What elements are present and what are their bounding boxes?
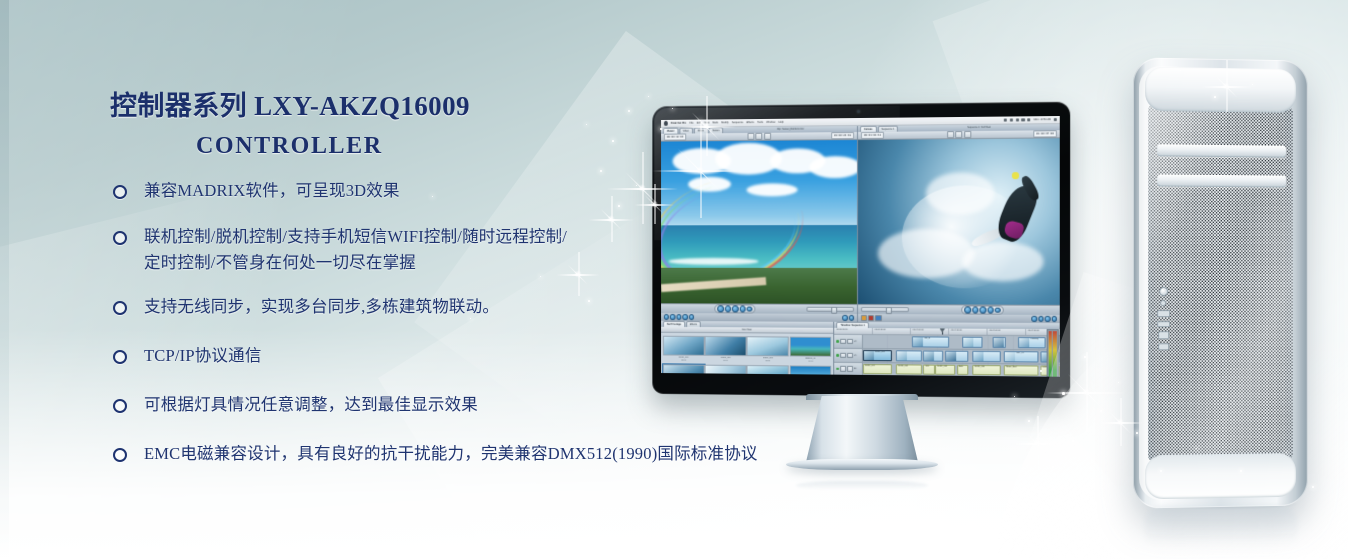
- feature-text: 可根据灯具情况任意调整，达到最佳显示效果: [144, 392, 478, 418]
- firewire-port-icon[interactable]: [1158, 343, 1169, 351]
- mark-in-button[interactable]: [1032, 316, 1038, 321]
- list-item[interactable]: SURF_00300:06: [748, 336, 788, 363]
- bullet-ring-icon: [113, 350, 127, 364]
- canvas-scrubber[interactable]: [861, 307, 909, 313]
- clip-label: Music_Bed: [1006, 367, 1016, 369]
- next-edit-button[interactable]: [682, 314, 687, 319]
- match-frame-button[interactable]: [717, 306, 723, 312]
- monitor-stand-base: [786, 459, 938, 470]
- list-item[interactable]: SURF_00200:11: [706, 336, 746, 363]
- battery-icon[interactable]: [1027, 118, 1030, 121]
- clip-label: SURF_001: [865, 365, 875, 367]
- viewer-timecode-out[interactable]: 01:00:24:18: [831, 132, 854, 139]
- mark-clip-button[interactable]: [725, 306, 731, 312]
- clip-thumbnail: [1005, 352, 1015, 361]
- timeline-clip[interactable]: [896, 350, 921, 361]
- prev-edit-button[interactable]: [964, 307, 970, 313]
- bullet-ring-icon: [113, 185, 127, 199]
- clip-thumbnail: [1019, 338, 1029, 347]
- browser-panel: Surf Footage Effects Icon View SURF_0010…: [661, 321, 835, 377]
- mark-out-button[interactable]: [1038, 316, 1044, 321]
- spotlight-icon[interactable]: [1053, 118, 1056, 121]
- clip-thumbnail: [1041, 352, 1051, 361]
- clip-thumbnail[interactable]: [705, 336, 747, 356]
- lower-row: Surf Footage Effects Icon View SURF_0010…: [661, 321, 1060, 377]
- list-item[interactable]: BEACH_0100:14: [790, 337, 830, 364]
- viewer-image-beach[interactable]: [661, 140, 857, 304]
- timeline-tab-strip[interactable]: Timeline: Sequence 1: [835, 322, 1060, 329]
- toolbar-spacer: [771, 136, 831, 137]
- canvas-transport[interactable]: [858, 304, 1060, 315]
- play-around-button[interactable]: [747, 306, 752, 311]
- tab-canvas[interactable]: Canvas: [860, 125, 876, 132]
- menu-file[interactable]: File: [689, 120, 693, 127]
- surfer-shorts: [1003, 219, 1025, 240]
- timeline-clip[interactable]: [923, 350, 943, 361]
- volume-icon[interactable]: [1016, 118, 1019, 121]
- loop-button[interactable]: [995, 307, 1000, 312]
- power-button-icon[interactable]: [1159, 287, 1168, 296]
- track-controls[interactable]: V1: [835, 349, 863, 362]
- timemachine-icon[interactable]: [1010, 118, 1013, 121]
- timeline-audio-clip[interactable]: Music_Bed: [1004, 365, 1038, 375]
- timeline-clip[interactable]: SKY_01: [1004, 351, 1038, 362]
- ruler-label: 00:01:30:00: [951, 329, 962, 331]
- track-enable-led[interactable]: [836, 354, 839, 357]
- tower-top-cap: [1145, 67, 1296, 113]
- feature-text: EMC电磁兼容设计，具有良好的抗干扰能力，完美兼容DMX512(1990)国际标…: [144, 441, 758, 467]
- canvas-view-button[interactable]: [955, 131, 962, 138]
- ruler-label: 00:00:00:00: [837, 328, 848, 330]
- timeline-clip[interactable]: Title_A: [912, 336, 949, 347]
- clip-duration: 00:08: [681, 360, 686, 363]
- surfer-arm: [1019, 174, 1041, 202]
- tab-sequence[interactable]: Sequence 1: [877, 125, 898, 132]
- menu-mark[interactable]: Mark: [713, 119, 719, 126]
- track-enable-led[interactable]: [836, 340, 839, 343]
- clip-duration: 00:11: [723, 360, 728, 363]
- display-monitor: Final Cut Pro File Edit View Mark Modify…: [652, 102, 1070, 399]
- monitor-screen: Final Cut Pro File Edit View Mark Modify…: [661, 116, 1060, 377]
- feature-text: 支持无线同步，实现多台同步,多栋建筑物联动。: [144, 294, 499, 320]
- monitor-stand-reflection: [796, 481, 928, 490]
- play-in-out-button[interactable]: [670, 314, 675, 319]
- tower-mesh-sheen: [1148, 105, 1293, 461]
- viewer-view-button[interactable]: [756, 133, 763, 140]
- canvas-image-surfer[interactable]: [858, 138, 1060, 304]
- timeline-panel: Timeline: Sequence 1 00:00:00:00 00:00:3…: [835, 322, 1060, 377]
- menu-bar-spacer: [787, 120, 1001, 122]
- clip-label: Title_A: [924, 338, 930, 340]
- monitor-stand-neck: [806, 396, 918, 462]
- clip-thumbnail: [864, 351, 874, 360]
- menu-view[interactable]: View: [704, 119, 709, 126]
- clip-label: SURF_002: [898, 366, 908, 368]
- timeline-audio-clip[interactable]: SURF_001: [863, 364, 892, 374]
- track-lane[interactable]: SURF_001 SKY_01: [863, 349, 1060, 364]
- clip-thumbnail: [897, 351, 907, 360]
- surfer-glove: [1012, 172, 1019, 179]
- clip-thumbnail: [913, 337, 923, 346]
- mark-clip-button[interactable]: [1045, 316, 1051, 321]
- clip-name: SURF_001: [679, 356, 689, 359]
- timeline-audio-clip[interactable]: SURF_003: [935, 365, 955, 375]
- bullet-ring-icon: [113, 231, 127, 245]
- ruler-label: 00:02:30:00: [1028, 330, 1039, 332]
- track-controls[interactable]: A1: [835, 363, 863, 375]
- usb-port-icon[interactable]: [1157, 310, 1170, 317]
- clip-name: SURF_002: [721, 357, 731, 360]
- menu-effects[interactable]: Effects: [746, 119, 754, 126]
- feature-text-line2: 定时控制/不管身在何处一切尽在掌握: [144, 250, 567, 276]
- timeline-tracks[interactable]: V2 Title_A Cutaway: [835, 335, 1060, 377]
- play-button[interactable]: [676, 314, 681, 319]
- clip-label: SKY_01: [1016, 353, 1023, 355]
- clip-label: SURF_010: [1042, 367, 1052, 369]
- clip-label: SFX: [925, 366, 929, 368]
- clip-duration: 00:06: [765, 360, 770, 363]
- viewer-scrubber[interactable]: [806, 307, 854, 313]
- menu-final-cut-pro[interactable]: Final Cut Pro: [671, 120, 687, 127]
- menu-tools[interactable]: Tools: [757, 119, 763, 126]
- timeline-audio-clip[interactable]: Amb: [957, 365, 969, 375]
- browser-clip-grid[interactable]: SURF_00100:08 SURF_00200:11 SURF_00300:0…: [661, 333, 834, 377]
- insert-edit-button[interactable]: [861, 315, 867, 321]
- toolbar-spacer: [971, 134, 1033, 135]
- tower-bottom-cap: [1145, 453, 1296, 499]
- clip-thumbnail: [993, 338, 1003, 347]
- headphone-jack-icon[interactable]: [1160, 300, 1166, 306]
- viewer-panel: Viewer Video Filters Motion Clip: Sunset…: [661, 126, 858, 322]
- viewer-mark-group[interactable]: [842, 315, 854, 320]
- ruler-label: 00:01:00:00: [913, 329, 924, 331]
- viewer-nav-group[interactable]: [664, 314, 694, 319]
- timeline-audio-clip[interactable]: SURF_002: [896, 364, 921, 374]
- mark-in-button[interactable]: [842, 315, 847, 320]
- prev-edit-button[interactable]: [664, 314, 669, 319]
- clip-label: Amb: [959, 366, 963, 368]
- menu-sequence[interactable]: Sequence: [732, 119, 743, 126]
- toolbar-spacer: [686, 136, 745, 137]
- clip-duration: 00:14: [808, 361, 813, 364]
- surfboard: [970, 225, 1007, 249]
- toolbar-spacer: [884, 135, 945, 136]
- timeline-clip[interactable]: Cutaway: [1018, 337, 1046, 348]
- spray-plume: [926, 172, 995, 215]
- page-title-en: CONTROLLER: [110, 133, 730, 160]
- canvas-mark-group[interactable]: [1032, 316, 1057, 322]
- canvas-transport-pill[interactable]: [961, 305, 1003, 315]
- firewire-port-icon[interactable]: [1158, 331, 1169, 339]
- bluetooth-icon[interactable]: [1004, 118, 1007, 121]
- feature-text: 兼容MADRIX软件，可呈现3D效果: [144, 178, 400, 204]
- overwrite-edit-button[interactable]: [868, 315, 874, 321]
- feature-text: 联机控制/脱机控制/支持手机短信WIFI控制/随时远程控制/定时控制/不管身在何…: [144, 224, 567, 276]
- cloud-shape: [809, 156, 857, 178]
- play-in-out-button[interactable]: [740, 306, 746, 312]
- track-visibility-toggle[interactable]: [840, 353, 846, 359]
- canvas-overlay-button[interactable]: [964, 131, 971, 138]
- table-row[interactable]: A1 SURF_001 SURF_002 SFX SURF_003 Amb SU…: [835, 363, 1060, 377]
- tower-port-cluster[interactable]: [1155, 287, 1171, 350]
- clip-thumbnail[interactable]: [747, 336, 789, 356]
- play-in-out-button[interactable]: [972, 307, 978, 313]
- table-row[interactable]: V2 Title_A Cutaway: [835, 335, 1060, 351]
- track-lock-toggle[interactable]: [847, 339, 853, 345]
- spray-plume: [962, 242, 1043, 282]
- page-title-cn: 控制器系列 LXY-AKZQ16009: [110, 84, 730, 123]
- canvas-timecode-out[interactable]: 01:00:37:02: [1033, 130, 1057, 137]
- play-button[interactable]: [980, 307, 986, 313]
- canvas-edit-group[interactable]: [861, 315, 881, 321]
- track-controls[interactable]: V2: [835, 335, 863, 348]
- tower-reflection: [1145, 505, 1297, 553]
- track-lane[interactable]: Title_A Cutaway: [863, 335, 1060, 349]
- wifi-icon[interactable]: [1021, 118, 1024, 121]
- track-enable-led[interactable]: [836, 368, 839, 371]
- bullet-ring-icon: [113, 399, 127, 413]
- menu-modify[interactable]: Modify: [721, 119, 728, 126]
- list-item[interactable]: SURF_00100:08: [664, 336, 703, 363]
- replace-edit-button[interactable]: [875, 315, 881, 321]
- clip-label: SURF_004: [975, 366, 985, 368]
- ruler-label: 00:00:30:00: [875, 329, 886, 331]
- surfer-body: [993, 182, 1041, 245]
- timeline-audio-clip[interactable]: SURF_004: [973, 365, 1001, 375]
- feature-text: TCP/IP协议通信: [144, 343, 262, 369]
- feature-text-line1: 联机控制/脱机控制/支持手机短信WIFI控制/随时远程控制/: [144, 227, 567, 246]
- bullet-ring-icon: [113, 301, 127, 315]
- promo-banner: 控制器系列 LXY-AKZQ16009 CONTROLLER 兼容MADRIX软…: [0, 0, 1348, 559]
- clip-thumbnail: [924, 352, 934, 361]
- table-row[interactable]: V1 SURF_001 SKY_01: [835, 349, 1060, 365]
- viewer-row: Viewer Video Filters Motion Clip: Sunset…: [661, 124, 1060, 323]
- viewer-overlay-button[interactable]: [764, 133, 771, 140]
- clip-thumbnail[interactable]: [663, 336, 704, 356]
- ruler-label: 00:02:00:00: [989, 329, 1000, 331]
- track-lane[interactable]: SURF_001 SURF_002 SFX SURF_003 Amb SURF_…: [863, 363, 1060, 377]
- timeline-clip[interactable]: [963, 337, 983, 348]
- add-keyframe-button[interactable]: [1051, 316, 1057, 321]
- optical-drive-slot[interactable]: [1157, 174, 1286, 187]
- timeline-audio-clip[interactable]: SFX: [923, 365, 935, 375]
- canvas-tab-strip[interactable]: Canvas Sequence 1 Sequence 1: Surf Reel: [858, 124, 1060, 132]
- wave-crest: [902, 185, 1027, 288]
- clip-thumbnail: [964, 338, 974, 347]
- canvas-panel: Canvas Sequence 1 Sequence 1: Surf Reel …: [858, 124, 1060, 323]
- timeline-clip[interactable]: SURF_001: [863, 350, 892, 361]
- clip-thumbnail: [946, 352, 956, 361]
- track-mute-toggle[interactable]: [840, 366, 846, 372]
- clip-label: SURF_003: [937, 366, 947, 368]
- spray-plume: [878, 228, 974, 278]
- list-item: 可根据灯具情况任意调整，达到最佳显示效果: [110, 392, 850, 418]
- menu-bar-clock[interactable]: Mon 10:53 AM: [1034, 118, 1051, 121]
- timeline-clip[interactable]: [945, 351, 969, 362]
- loop-button[interactable]: [689, 314, 694, 319]
- canvas-title: Sequence 1: Surf Reel: [899, 124, 1060, 132]
- clip-thumbnail: [974, 352, 984, 361]
- viewer-zoom-button[interactable]: [747, 133, 754, 140]
- add-edit-button[interactable]: [732, 306, 738, 312]
- canvas-toolbar: 00:01:04:11 01:00:37:02: [858, 130, 1060, 140]
- menu-help[interactable]: Help: [778, 119, 783, 126]
- clip-label: Cutaway: [1030, 339, 1038, 341]
- mac-pro-tower: [1133, 57, 1308, 508]
- bullet-ring-icon: [113, 448, 127, 462]
- timeline-clip[interactable]: [973, 351, 1001, 362]
- apple-logo-icon[interactable]: [664, 121, 668, 126]
- track-lock-toggle[interactable]: [847, 353, 853, 359]
- track-visibility-toggle[interactable]: [840, 339, 846, 345]
- playhead[interactable]: [942, 328, 943, 334]
- water-background: [858, 138, 1060, 304]
- viewer-timecode-in[interactable]: 00:00:12:04: [664, 134, 686, 141]
- timeline-clip[interactable]: [992, 337, 1006, 348]
- canvas-timecode-in[interactable]: 00:01:04:11: [861, 132, 884, 139]
- clip-thumbnail[interactable]: [789, 337, 831, 357]
- track-name: V2: [854, 340, 857, 342]
- track-name: V1: [854, 354, 857, 356]
- clip-name: SURF_003: [763, 357, 773, 360]
- mark-out-button[interactable]: [849, 315, 854, 320]
- next-edit-button[interactable]: [987, 307, 993, 313]
- track-name: A1: [854, 368, 857, 370]
- usb-port-icon[interactable]: [1157, 321, 1170, 328]
- timeline-ruler[interactable]: 00:00:00:00 00:00:30:00 00:01:00:00 00:0…: [835, 328, 1060, 336]
- list-item: EMC电磁兼容设计，具有良好的抗干扰能力，完美兼容DMX512(1990)国际标…: [110, 441, 850, 467]
- clip-label: SURF_001: [875, 352, 885, 354]
- canvas-zoom-button[interactable]: [947, 131, 954, 138]
- track-solo-toggle[interactable]: [847, 366, 853, 372]
- clip-name: BEACH_01: [805, 357, 816, 360]
- optical-drive-slot[interactable]: [1157, 144, 1286, 157]
- menu-window[interactable]: Window: [766, 119, 775, 126]
- surf-line: [669, 258, 759, 265]
- heading-group: 控制器系列 LXY-AKZQ16009 CONTROLLER: [110, 84, 730, 160]
- menu-edit[interactable]: Edit: [697, 120, 701, 127]
